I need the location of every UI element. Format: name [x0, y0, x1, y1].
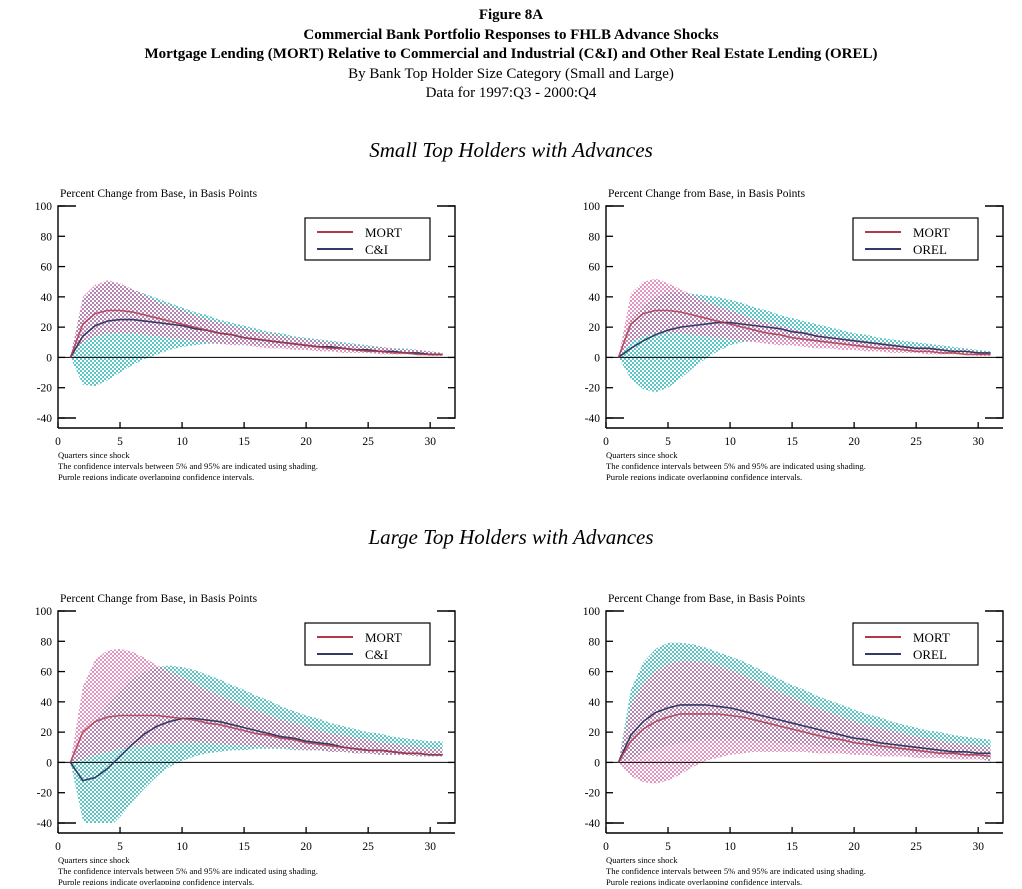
y-tick-label: 0 [594, 352, 600, 364]
chart-plot-area [606, 279, 1003, 393]
chart-footnote-2: The confidence intervals between 5% and … [58, 866, 318, 876]
y-tick-label: -20 [585, 383, 601, 395]
chart-axis-title: Percent Change from Base, in Basis Point… [608, 188, 806, 200]
chart-legend[interactable]: MORTC&I [305, 623, 430, 665]
chart-footnote-2: The confidence intervals between 5% and … [606, 866, 866, 876]
x-tick-label: 10 [724, 841, 736, 853]
x-tick-label: 20 [848, 436, 860, 448]
y-tick-label: 0 [46, 352, 52, 364]
panel-small-mort-ci: Percent Change from Base, in Basis Point… [30, 180, 500, 485]
y-tick-label: 20 [41, 322, 53, 334]
y-tick-label: 60 [589, 667, 601, 679]
chart-legend[interactable]: MORTC&I [305, 218, 430, 260]
figure-title-category: By Bank Top Holder Size Category (Small … [0, 65, 1022, 85]
x-tick-label: 10 [724, 436, 736, 448]
y-tick-label: 80 [589, 231, 601, 243]
y-tick-label: 20 [589, 727, 601, 739]
y-tick-label: 0 [46, 757, 52, 769]
x-tick-label: 30 [972, 841, 984, 853]
figure-title-main: Commercial Bank Portfolio Responses to F… [0, 26, 1022, 46]
y-tick-label: -40 [37, 818, 53, 830]
chart-footnote-1: Quarters since shock [606, 855, 678, 865]
x-tick-label: 10 [176, 436, 188, 448]
y-tick-label: -20 [585, 788, 601, 800]
x-tick-label: 5 [665, 841, 671, 853]
x-tick-label: 0 [55, 436, 61, 448]
chart-plot-area [58, 649, 455, 834]
legend-label-orel: OREL [913, 647, 947, 662]
x-tick-label: 25 [362, 841, 374, 853]
y-tick-label: 100 [583, 201, 601, 213]
y-tick-label: -40 [585, 413, 601, 425]
figure-title-block: Figure 8A Commercial Bank Portfolio Resp… [0, 0, 1022, 104]
chart-legend[interactable]: MORTOREL [853, 623, 978, 665]
x-axis: 051015202530 [55, 827, 436, 853]
chart-svg: Percent Change from Base, in Basis Point… [578, 585, 1022, 885]
x-tick-label: 25 [362, 436, 374, 448]
y-tick-label: 80 [41, 636, 53, 648]
x-tick-label: 30 [972, 436, 984, 448]
y-tick-label: 20 [589, 322, 601, 334]
x-tick-label: 15 [238, 841, 250, 853]
y-tick-label: 40 [41, 292, 53, 304]
x-tick-label: 25 [910, 436, 922, 448]
y-tick-label: 100 [35, 201, 53, 213]
chart-legend[interactable]: MORTOREL [853, 218, 978, 260]
chart-axis-title: Percent Change from Base, in Basis Point… [60, 593, 258, 605]
x-tick-label: 30 [424, 436, 436, 448]
chart-footnote-1: Quarters since shock [58, 855, 130, 865]
x-tick-label: 15 [238, 436, 250, 448]
legend-label-ci: C&I [365, 242, 388, 257]
x-tick-label: 30 [424, 841, 436, 853]
legend-label-mort: MORT [365, 225, 402, 240]
y-tick-label: -40 [585, 818, 601, 830]
legend-label-orel: OREL [913, 242, 947, 257]
legend-label-mort: MORT [365, 630, 402, 645]
x-tick-label: 15 [786, 436, 798, 448]
y-tick-label: 80 [41, 231, 53, 243]
chart-axis-title: Percent Change from Base, in Basis Point… [608, 593, 806, 605]
chart-footnote-1: Quarters since shock [58, 450, 130, 460]
chart-footnote-3: Purple regions indicate overlapping conf… [58, 877, 254, 885]
x-tick-label: 15 [786, 841, 798, 853]
legend-label-mort: MORT [913, 630, 950, 645]
y-tick-label: 80 [589, 636, 601, 648]
chart-footnote-3: Purple regions indicate overlapping conf… [606, 877, 802, 885]
y-tick-label: 40 [589, 697, 601, 709]
confidence-band-mort [618, 661, 990, 784]
chart-plot-area [58, 280, 455, 386]
x-axis: 051015202530 [603, 422, 984, 448]
section-heading-large: Large Top Holders with Advances [0, 525, 1022, 550]
y-tick-label: 40 [589, 292, 601, 304]
x-tick-label: 20 [300, 841, 312, 853]
panel-large-mort-orel: Percent Change from Base, in Basis Point… [578, 585, 1022, 885]
figure-title-data-range: Data for 1997:Q3 - 2000:Q4 [0, 84, 1022, 104]
x-tick-label: 0 [603, 841, 609, 853]
y-tick-label: 60 [41, 667, 53, 679]
y-tick-label: 60 [41, 262, 53, 274]
y-tick-label: 0 [594, 757, 600, 769]
y-tick-label: 100 [35, 606, 53, 618]
chart-svg: Percent Change from Base, in Basis Point… [578, 180, 1022, 480]
x-tick-label: 5 [117, 841, 123, 853]
y-tick-label: 60 [589, 262, 601, 274]
chart-footnote-2: The confidence intervals between 5% and … [58, 461, 318, 471]
x-tick-label: 0 [55, 841, 61, 853]
y-tick-label: -40 [37, 413, 53, 425]
chart-footnote-2: The confidence intervals between 5% and … [606, 461, 866, 471]
chart-footnote-1: Quarters since shock [606, 450, 678, 460]
x-tick-label: 25 [910, 841, 922, 853]
section-heading-small: Small Top Holders with Advances [0, 138, 1022, 163]
legend-label-mort: MORT [913, 225, 950, 240]
x-axis: 051015202530 [55, 422, 436, 448]
x-axis: 051015202530 [603, 827, 984, 853]
figure-title-sub: Mortgage Lending (MORT) Relative to Comm… [0, 45, 1022, 65]
panel-small-mort-orel: Percent Change from Base, in Basis Point… [578, 180, 1022, 485]
y-tick-label: 40 [41, 697, 53, 709]
chart-footnote-3: Purple regions indicate overlapping conf… [606, 472, 802, 480]
x-tick-label: 10 [176, 841, 188, 853]
x-tick-label: 20 [848, 841, 860, 853]
y-tick-label: -20 [37, 383, 53, 395]
y-tick-label: 100 [583, 606, 601, 618]
panel-large-mort-ci: Percent Change from Base, in Basis Point… [30, 585, 500, 885]
chart-footnote-3: Purple regions indicate overlapping conf… [58, 472, 254, 480]
y-tick-label: 20 [41, 727, 53, 739]
chart-svg: Percent Change from Base, in Basis Point… [30, 585, 500, 885]
x-tick-label: 5 [665, 436, 671, 448]
y-tick-label: -20 [37, 788, 53, 800]
figure-page: Figure 8A Commercial Bank Portfolio Resp… [0, 0, 1022, 889]
figure-number: Figure 8A [0, 6, 1022, 26]
legend-label-ci: C&I [365, 647, 388, 662]
x-tick-label: 5 [117, 436, 123, 448]
x-tick-label: 0 [603, 436, 609, 448]
chart-svg: Percent Change from Base, in Basis Point… [30, 180, 500, 480]
chart-axis-title: Percent Change from Base, in Basis Point… [60, 188, 258, 200]
x-tick-label: 20 [300, 436, 312, 448]
